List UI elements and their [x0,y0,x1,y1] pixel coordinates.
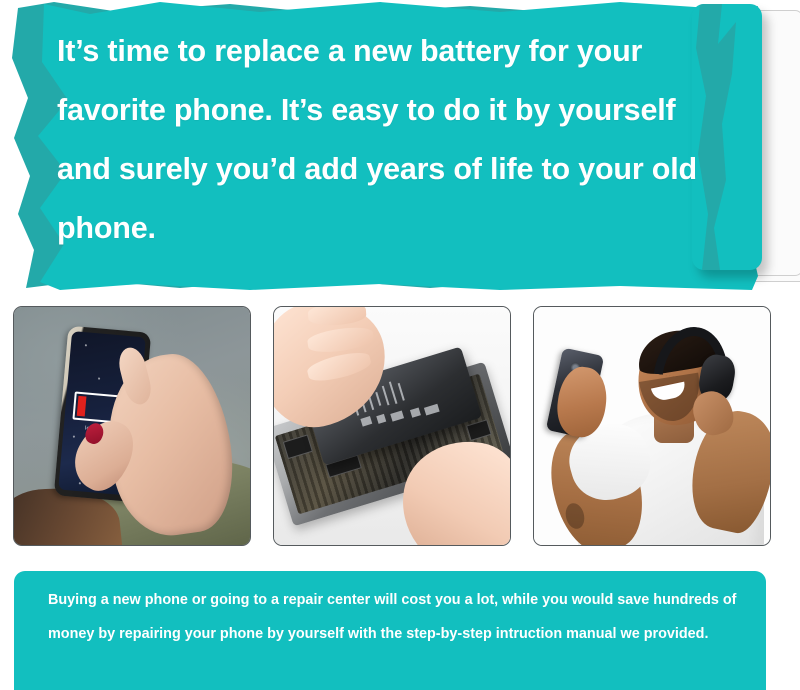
infographic-page: It’s time to replace a new battery for y… [0,0,800,690]
gallery-card-battery-replacement[interactable] [273,306,511,546]
photo-gallery: low battery [0,306,800,548]
page-headline: It’s time to replace a new battery for y… [57,22,722,258]
low-battery-photo: low battery [14,307,250,545]
happy-user-photo [534,307,770,545]
gallery-card-low-battery[interactable]: low battery [13,306,251,546]
battery-level-fill [77,396,87,417]
caption-banner: Buying a new phone or going to a repair … [14,571,766,690]
gallery-card-happy-user[interactable] [533,306,771,546]
caption-text: Buying a new phone or going to a repair … [48,583,738,651]
hero-banner: It’s time to replace a new battery for y… [0,0,800,292]
battery-replacement-photo [274,307,510,545]
